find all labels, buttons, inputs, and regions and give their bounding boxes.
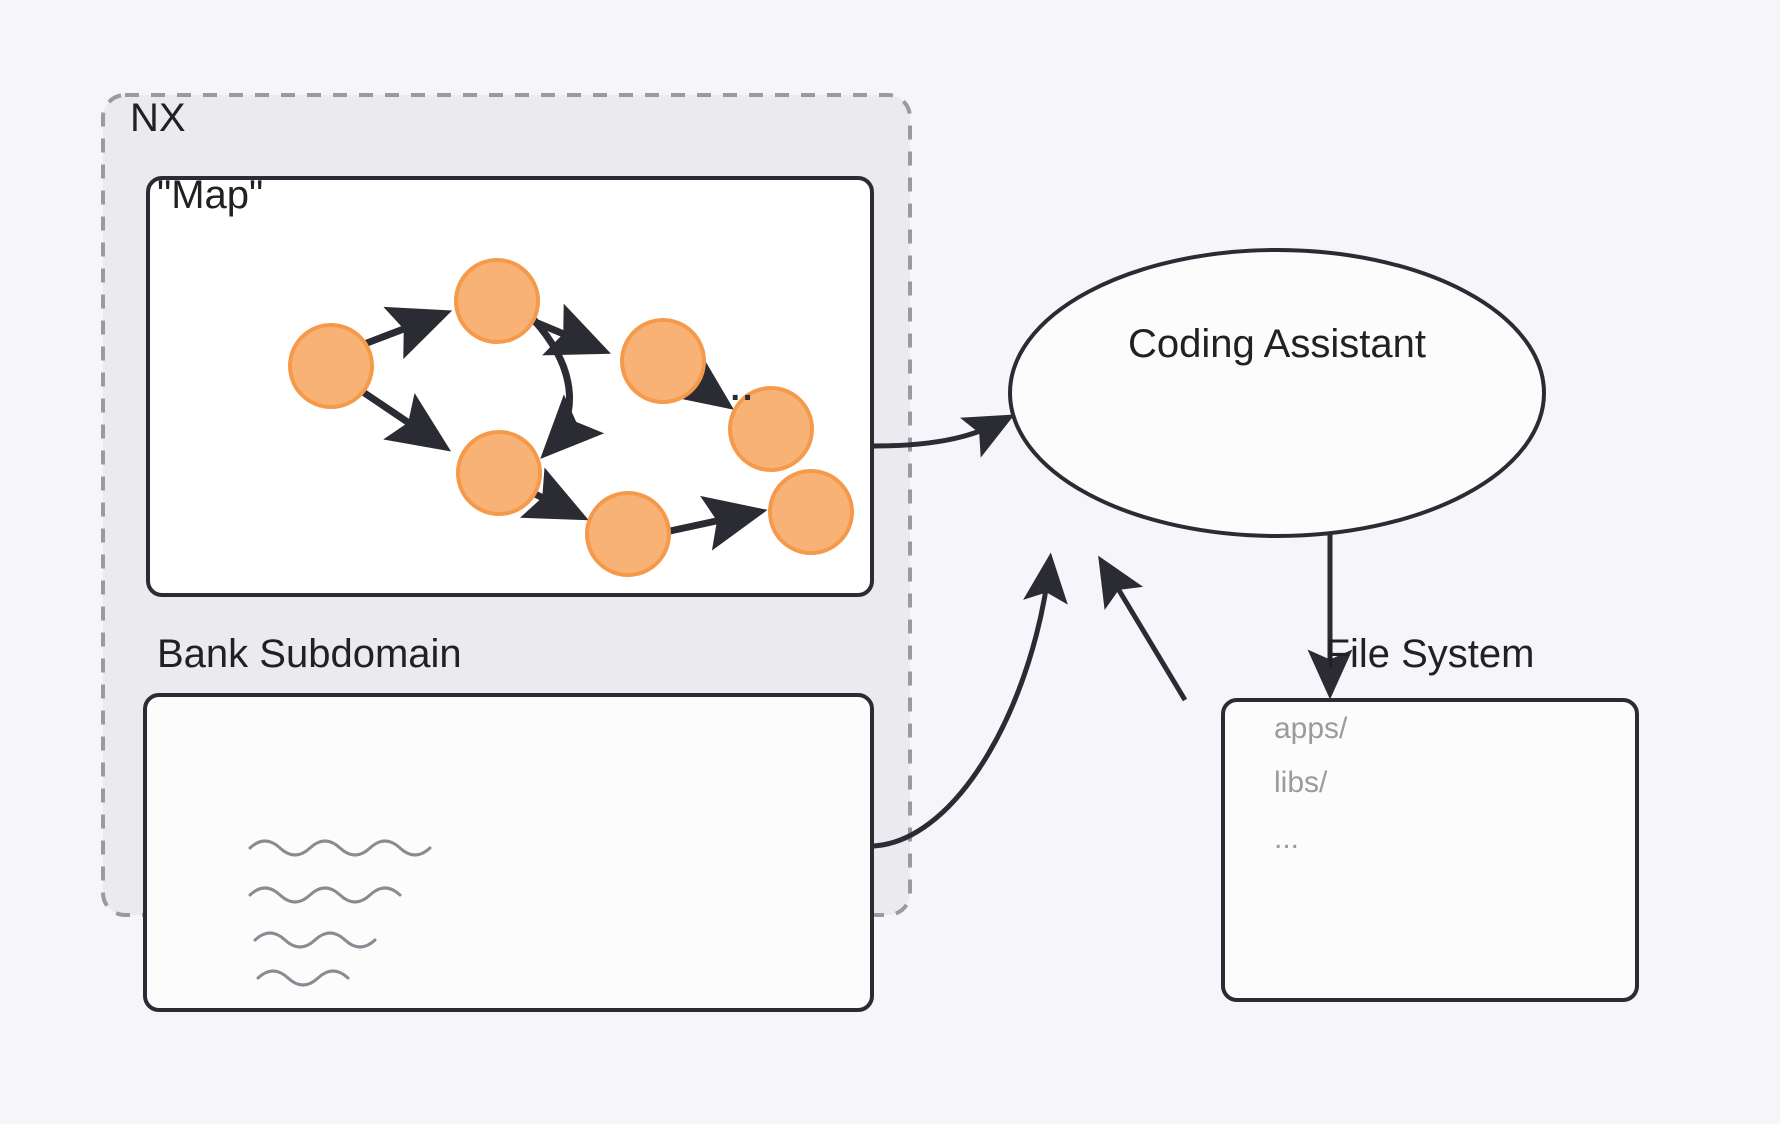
coding-assistant-node [1010,250,1544,536]
bank-subdomain-panel [145,695,872,1010]
diagram-canvas: NX "Map" ... Bank Subdomain Coding Assis… [0,0,1780,1124]
connector-secondary-to-assistant [1102,562,1185,700]
graph-node-4 [730,388,812,470]
graph-node-0 [290,325,372,407]
graph-node-6 [770,471,852,553]
file-system-item-apps: apps/ [1274,712,1347,746]
file-system-item-more: ... [1274,822,1299,856]
graph-node-1 [456,260,538,342]
graph-node-3 [458,432,540,514]
diagram-svg [0,0,1780,1124]
graph-node-5 [587,493,669,575]
graph-node-2 [622,320,704,402]
file-system-item-libs: libs/ [1274,766,1327,800]
map-panel [148,178,872,595]
